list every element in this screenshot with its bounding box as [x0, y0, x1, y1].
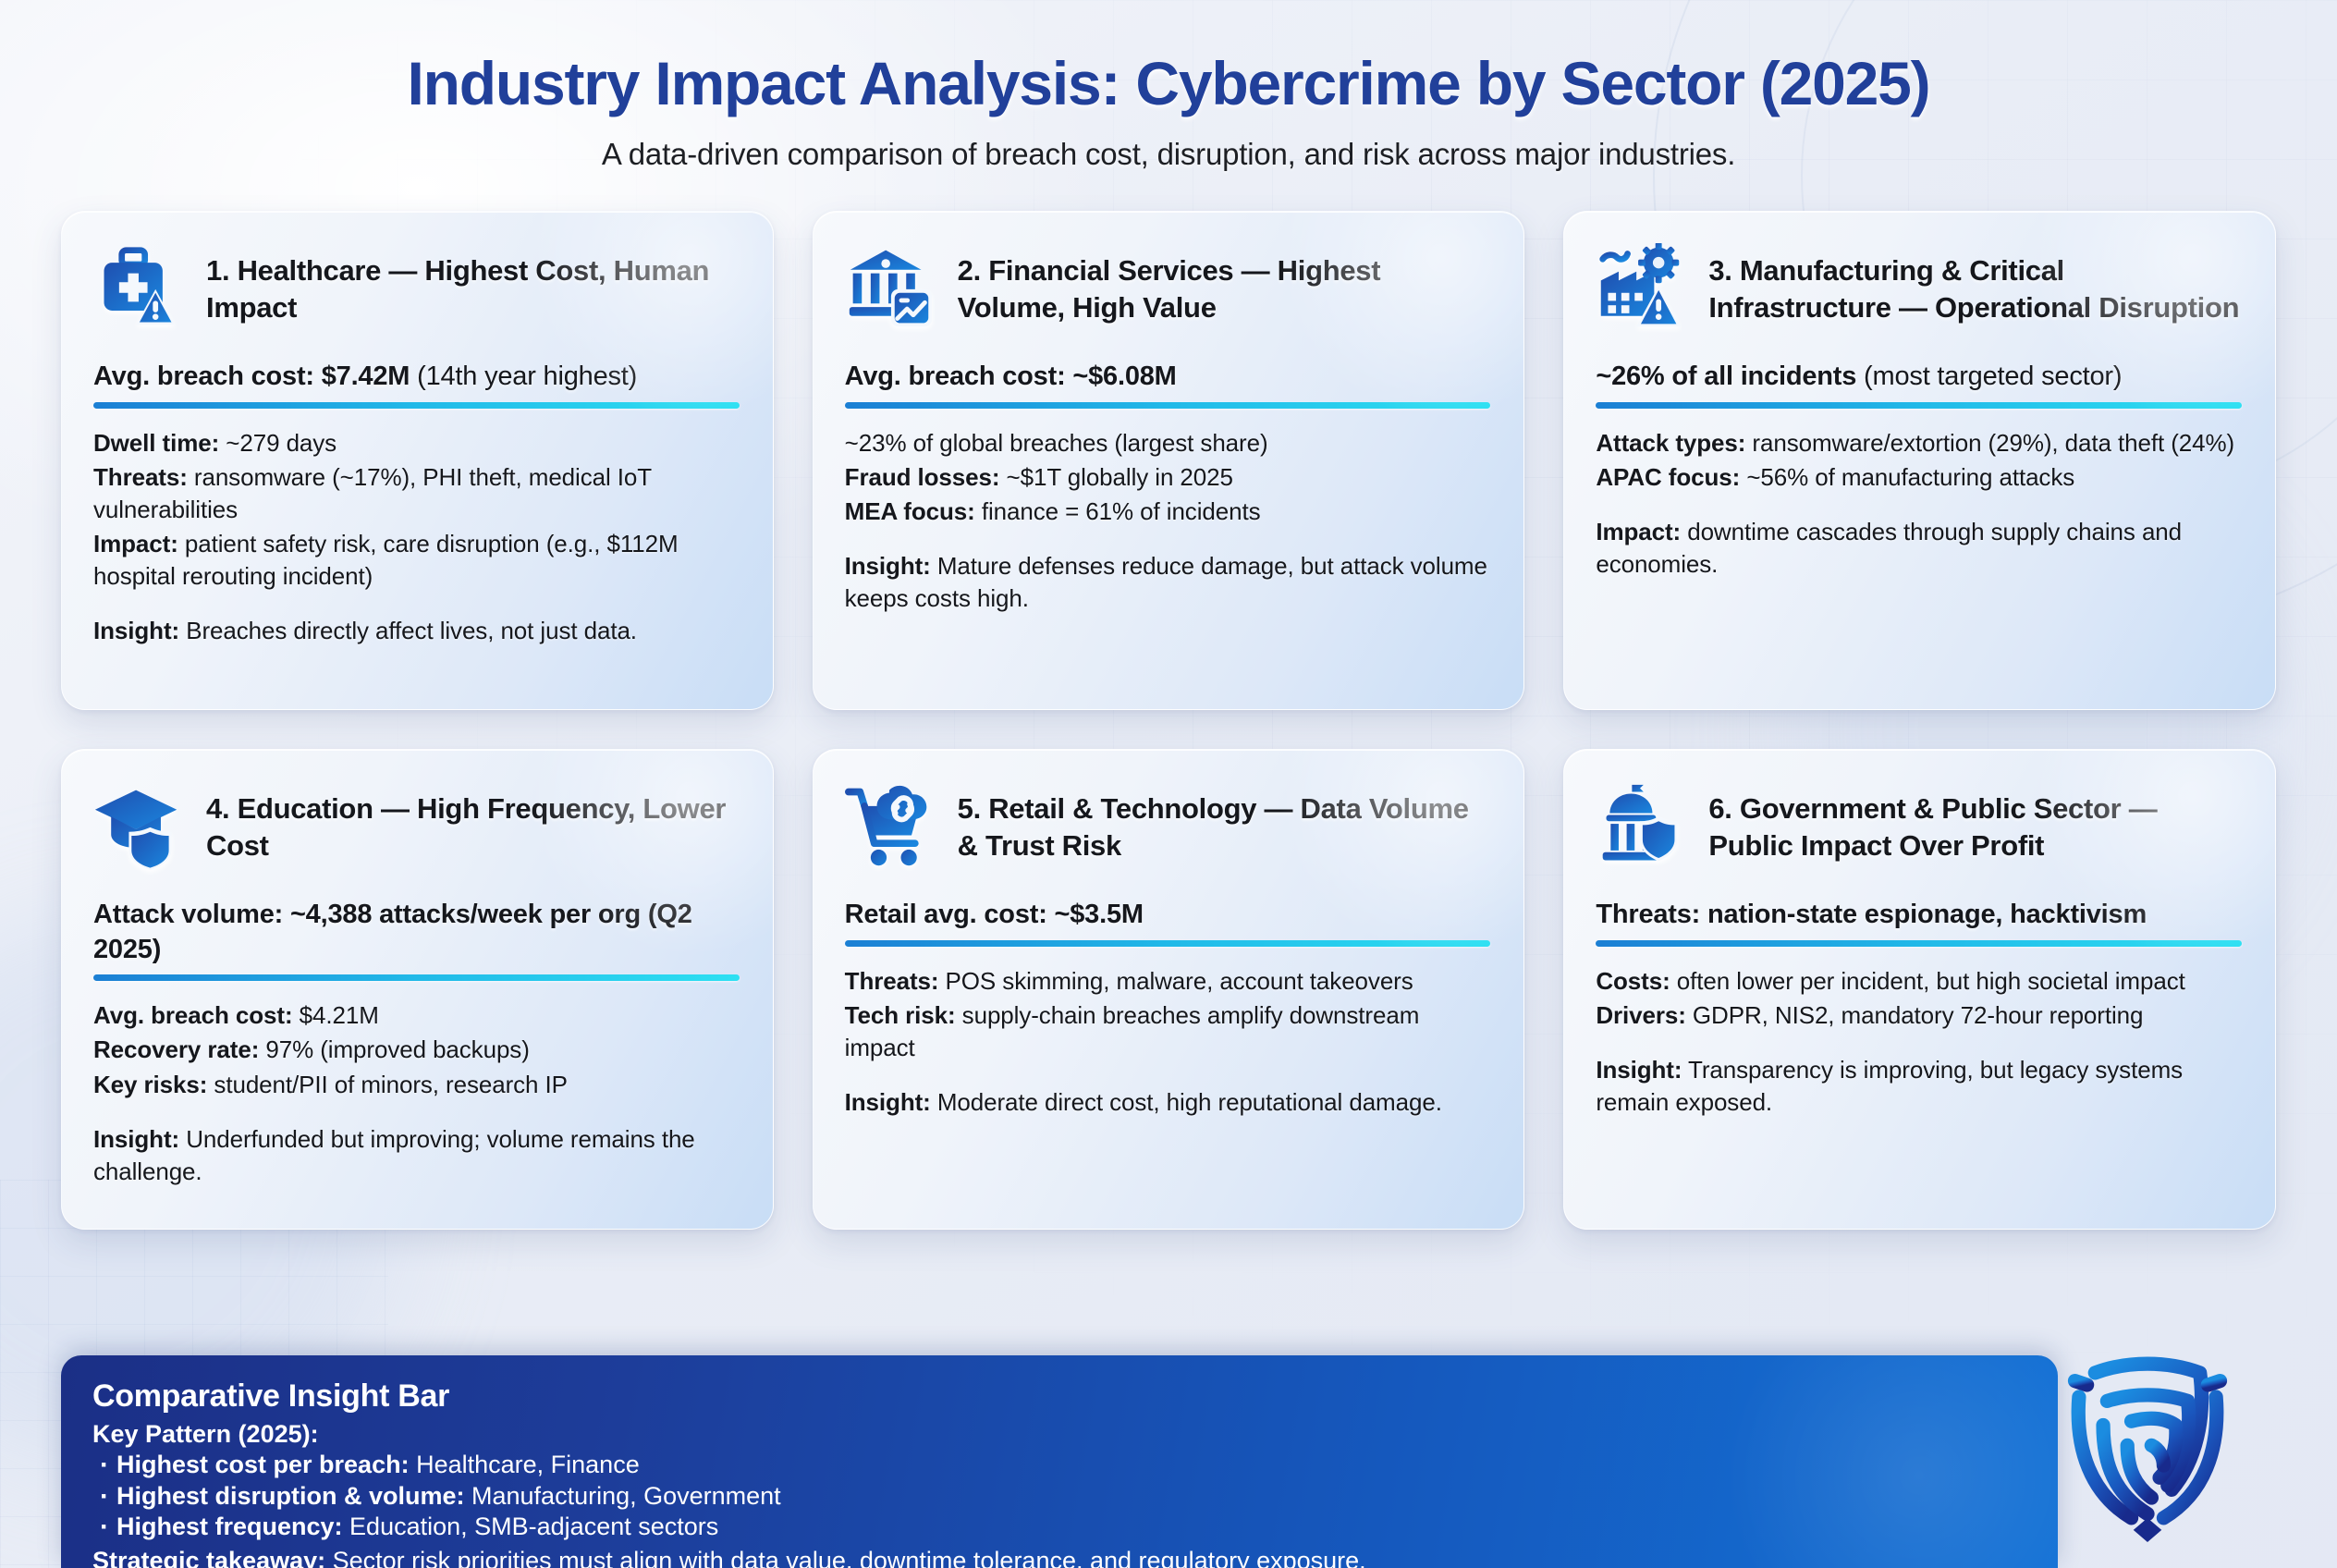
detail-text: POS skimming, malware, account takeovers	[938, 967, 1413, 995]
insight-text: Moderate direct cost, high reputational …	[931, 1088, 1442, 1116]
card-title: 4. Education — High Frequency, Lower Cos…	[206, 781, 740, 864]
card-header: 2. Financial Services — Highest Volume, …	[845, 243, 1491, 332]
detail-row: Avg. breach cost: $4.21M	[93, 999, 740, 1032]
insight-text: Breaches directly affect lives, not just…	[179, 617, 637, 644]
insight-text: Mature defenses reduce damage, but attac…	[845, 552, 1487, 612]
headline-stat: Avg. breach cost: ~$6.08M	[845, 360, 1491, 409]
insight-bar-item: Highest disruption & volume: Manufacturi…	[92, 1481, 2026, 1512]
insight-label: Insight:	[93, 617, 179, 644]
headline-stat-note: (14th year highest)	[410, 361, 637, 391]
detail-label: Key risks:	[93, 1071, 207, 1098]
strategic-takeaway: Strategic takeaway: Sector risk prioriti…	[92, 1545, 2026, 1568]
detail-row: Threats: POS skimming, malware, account …	[845, 965, 1491, 998]
detail-text: student/PII of minors, research IP	[207, 1071, 568, 1098]
insight-item-label: Highest frequency:	[116, 1513, 343, 1540]
detail-label: Dwell time:	[93, 429, 219, 457]
headline-stat: ~26% of all incidents (most targeted sec…	[1596, 360, 2242, 409]
detail-row: Key risks: student/PII of minors, resear…	[93, 1069, 740, 1101]
accent-rule	[845, 940, 1491, 947]
accent-rule	[93, 974, 740, 981]
card-header: 4. Education — High Frequency, Lower Cos…	[93, 781, 740, 870]
shield-maze-logo	[2047, 1341, 2248, 1542]
accent-rule	[93, 402, 740, 409]
card-body: Attack types: ransomware/extortion (29%)…	[1596, 427, 2242, 581]
graduation-cap-shield-icon	[93, 781, 182, 870]
insight-bar-item: Highest cost per breach: Healthcare, Fin…	[92, 1450, 2026, 1480]
medical-briefcase-alert-icon	[93, 243, 182, 332]
detail-label: Threats:	[93, 463, 188, 491]
infographic-page: Industry Impact Analysis: Cybercrime by …	[0, 0, 2337, 1568]
card-title: 2. Financial Services — Highest Volume, …	[958, 243, 1491, 325]
card-body: Avg. breach cost: $4.21M Recovery rate: …	[93, 999, 740, 1187]
card-title: 3. Manufacturing & Critical Infrastructu…	[1708, 243, 2242, 325]
headline-stat-value: Threats: nation-state espionage, hacktiv…	[1596, 900, 2147, 929]
detail-label: Attack types:	[1596, 429, 1745, 457]
detail-text: GDPR, NIS2, mandatory 72-hour reporting	[1686, 1001, 2144, 1029]
card-title: 5. Retail & Technology — Data Volume & T…	[958, 781, 1491, 864]
insight-item-text: Education, SMB-adjacent sectors	[343, 1513, 719, 1540]
factory-gear-alert-icon	[1596, 243, 1684, 332]
card-header: 6. Government & Public Sector — Public I…	[1596, 781, 2242, 870]
card-body: ~23% of global breaches (largest share) …	[845, 427, 1491, 615]
card-header: 5. Retail & Technology — Data Volume & T…	[845, 781, 1491, 870]
card-insight: Insight: Mature defenses reduce damage, …	[845, 550, 1491, 615]
headline-stat: Retail avg. cost: ~$3.5M	[845, 898, 1491, 947]
headline-stat-value: ~26% of all incidents	[1596, 361, 1856, 391]
sector-card-financial-services[interactable]: 2. Financial Services — Highest Volume, …	[813, 211, 1525, 710]
headline-stat-note: (most targeted sector)	[1856, 361, 2122, 391]
detail-text: ~279 days	[219, 429, 336, 457]
detail-text: often lower per incident, but high socie…	[1670, 967, 2185, 995]
sector-card-manufacturing[interactable]: 3. Manufacturing & Critical Infrastructu…	[1563, 211, 2276, 710]
insight-label: Insight:	[845, 552, 931, 580]
detail-row: MEA focus: finance = 61% of incidents	[845, 496, 1491, 528]
headline-stat-value: Attack volume: ~4,388 attacks/week per o…	[93, 900, 692, 964]
headline-stat: Avg. breach cost: $7.42M (14th year high…	[93, 360, 740, 409]
card-insight: Insight: Underfunded but improving; volu…	[93, 1123, 740, 1188]
detail-label: Drivers:	[1596, 1001, 1685, 1029]
card-title: 1. Healthcare — Highest Cost, Human Impa…	[206, 243, 740, 325]
insight-item-text: Manufacturing, Government	[465, 1482, 781, 1510]
headline-stat: Threats: nation-state espionage, hacktiv…	[1596, 898, 2242, 947]
detail-row: Dwell time: ~279 days	[93, 427, 740, 459]
detail-row: Tech risk: supply-chain breaches amplify…	[845, 999, 1491, 1064]
card-insight: Insight: Transparency is improving, but …	[1596, 1054, 2242, 1119]
capitol-shield-icon	[1596, 781, 1684, 870]
insight-text: downtime cascades through supply chains …	[1596, 518, 2182, 578]
detail-row: ~23% of global breaches (largest share)	[845, 427, 1491, 459]
insight-bar-item: Highest frequency: Education, SMB-adjace…	[92, 1512, 2026, 1542]
page-title: Industry Impact Analysis: Cybercrime by …	[61, 52, 2276, 116]
card-title: 6. Government & Public Sector — Public I…	[1708, 781, 2242, 864]
detail-row: APAC focus: ~56% of manufacturing attack…	[1596, 461, 2242, 494]
detail-text: ~23% of global breaches (largest share)	[845, 429, 1268, 457]
detail-row: Recovery rate: 97% (improved backups)	[93, 1034, 740, 1066]
insight-text: Transparency is improving, but legacy sy…	[1596, 1056, 2183, 1116]
sector-card-retail-technology[interactable]: 5. Retail & Technology — Data Volume & T…	[813, 749, 1525, 1230]
sector-card-healthcare[interactable]: 1. Healthcare — Highest Cost, Human Impa…	[61, 211, 774, 710]
insight-item-label: Highest disruption & volume:	[116, 1482, 465, 1510]
card-header: 1. Healthcare — Highest Cost, Human Impa…	[93, 243, 740, 332]
detail-text: ~56% of manufacturing attacks	[1740, 463, 2074, 491]
insight-item-label: Highest cost per breach:	[116, 1451, 410, 1478]
detail-text: 97% (improved backups)	[259, 1035, 530, 1063]
sector-cards-grid: 1. Healthcare — Highest Cost, Human Impa…	[61, 211, 2276, 1230]
detail-text: $4.21M	[293, 1001, 379, 1029]
header: Industry Impact Analysis: Cybercrime by …	[61, 52, 2276, 172]
takeaway-label: Strategic takeaway:	[92, 1547, 325, 1568]
insight-label: Impact:	[1596, 518, 1681, 545]
detail-label: Recovery rate:	[93, 1035, 259, 1063]
detail-text: patient safety risk, care disruption (e.…	[93, 530, 679, 590]
insight-label: Insight:	[845, 1088, 931, 1116]
insight-item-text: Healthcare, Finance	[410, 1451, 640, 1478]
detail-text: ~$1T globally in 2025	[999, 463, 1232, 491]
headline-stat-value: Retail avg. cost: ~$3.5M	[845, 900, 1144, 929]
detail-text: ransomware/extortion (29%), data theft (…	[1745, 429, 2234, 457]
detail-row: Threats: ransomware (~17%), PHI theft, m…	[93, 461, 740, 526]
takeaway-text: Sector risk priorities must align with d…	[325, 1547, 1366, 1568]
detail-label: MEA focus:	[845, 497, 975, 525]
insight-bar-title: Comparative Insight Bar	[92, 1378, 2026, 1415]
bank-chart-icon	[845, 243, 934, 332]
card-insight: Insight: Moderate direct cost, high repu…	[845, 1086, 1491, 1119]
accent-rule	[1596, 940, 2242, 947]
detail-label: Fraud losses:	[845, 463, 1000, 491]
detail-label: APAC focus:	[1596, 463, 1740, 491]
detail-label: Threats:	[845, 967, 939, 995]
comparative-insight-bar: Comparative Insight Bar Key Pattern (202…	[61, 1355, 2058, 1568]
detail-row: Fraud losses: ~$1T globally in 2025	[845, 461, 1491, 494]
detail-label: Impact:	[93, 530, 178, 557]
detail-label: Costs:	[1596, 967, 1670, 995]
accent-rule	[1596, 402, 2242, 409]
detail-label: Avg. breach cost:	[93, 1001, 293, 1029]
headline-stat-value: Avg. breach cost: $7.42M	[93, 361, 410, 391]
detail-label: Tech risk:	[845, 1001, 956, 1029]
sector-card-education[interactable]: 4. Education — High Frequency, Lower Cos…	[61, 749, 774, 1230]
sector-card-government[interactable]: 6. Government & Public Sector — Public I…	[1563, 749, 2276, 1230]
insight-label: Insight:	[93, 1125, 179, 1153]
card-header: 3. Manufacturing & Critical Infrastructu…	[1596, 243, 2242, 332]
card-body: Costs: often lower per incident, but hig…	[1596, 965, 2242, 1119]
detail-row: Attack types: ransomware/extortion (29%)…	[1596, 427, 2242, 459]
card-insight: Insight: Breaches directly affect lives,…	[93, 615, 740, 647]
card-body: Threats: POS skimming, malware, account …	[845, 965, 1491, 1119]
card-body: Dwell time: ~279 days Threats: ransomwar…	[93, 427, 740, 648]
detail-row: Impact: patient safety risk, care disrup…	[93, 528, 740, 593]
detail-text: finance = 61% of incidents	[975, 497, 1261, 525]
insight-label: Insight:	[1596, 1056, 1682, 1084]
accent-rule	[845, 402, 1491, 409]
insight-text: Underfunded but improving; volume remain…	[93, 1125, 695, 1185]
headline-stat: Attack volume: ~4,388 attacks/week per o…	[93, 898, 740, 981]
insight-bar-subtitle: Key Pattern (2025):	[92, 1419, 2026, 1450]
headline-stat-value: Avg. breach cost: ~$6.08M	[845, 361, 1177, 391]
card-insight: Impact: downtime cascades through supply…	[1596, 516, 2242, 581]
detail-row: Drivers: GDPR, NIS2, mandatory 72-hour r…	[1596, 999, 2242, 1032]
detail-row: Costs: often lower per incident, but hig…	[1596, 965, 2242, 998]
shopping-cart-cloud-link-icon	[845, 781, 934, 870]
page-subtitle: A data-driven comparison of breach cost,…	[61, 137, 2276, 172]
